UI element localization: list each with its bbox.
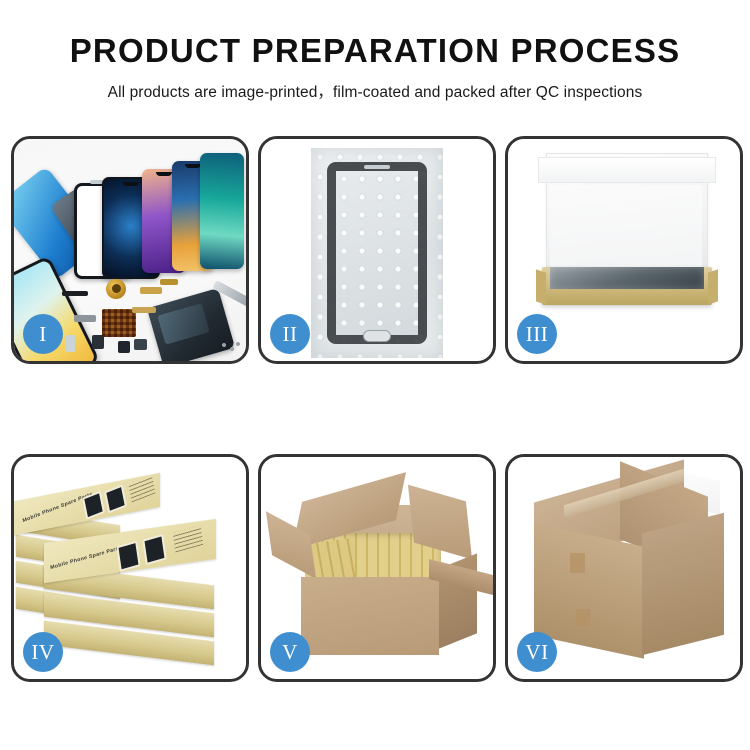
box-spec-lines [173,525,204,552]
process-step-6: VI [505,454,743,682]
small-module-part [134,339,147,350]
carton-seam-tab [576,609,590,627]
ic-chip-part [118,341,130,353]
process-step-3: III [505,136,743,364]
process-step-1: I [11,136,249,364]
notch-icon [185,164,201,168]
bubble-wrap-sheet [311,148,443,358]
box-chip-image [104,484,127,513]
sim-tray-part [66,335,75,352]
step-badge-4: IV [23,632,63,672]
step-badge-1: I [23,314,63,354]
process-step-grid: I II III [11,136,739,682]
screws-group [220,341,242,353]
step-badge-2: II [270,314,310,354]
speaker-grille-part [102,309,136,337]
sealed-carton-side-panel [642,513,724,655]
gold-flex-part [140,287,162,294]
earpiece-icon [364,165,390,169]
box-label-text: Mobile Phone Spare Parts [22,491,93,524]
notch-icon [123,182,139,186]
box-label-text: Mobile Phone Spare Parts [50,545,121,571]
packed-screen-item [550,267,704,289]
box-spec-lines [129,476,156,502]
box-chip-image [116,541,140,572]
process-step-5: V [258,454,496,682]
step-badge-6: VI [517,632,557,672]
page-title: PRODUCT PREPARATION PROCESS [0,34,750,69]
copper-coil-part [106,279,126,299]
home-button-icon [363,330,391,342]
box-chip-image [142,534,166,565]
white-lid-flap [538,157,716,183]
foam-insert [550,185,702,271]
gold-connector-part [132,307,156,313]
step-badge-3: III [517,314,557,354]
notch-icon [156,172,172,176]
camera-module-part [92,335,104,349]
process-step-2: II [258,136,496,364]
phone-teal-wallpaper [200,153,244,269]
carton-front-panel [301,577,439,655]
flex-cable-part [62,291,88,296]
wrapped-screen-glass [327,162,427,344]
step-badge-5: V [270,632,310,672]
carton-seam-tab [570,553,585,573]
metal-bracket-part [74,315,96,322]
page-subtitle: All products are image-printed，film-coat… [0,80,750,102]
gold-ribbon-part [160,279,178,285]
process-step-4: Mobile Phone Spare Parts Mobile Phone Sp… [11,454,249,682]
page-header: PRODUCT PREPARATION PROCESS All products… [0,0,750,102]
